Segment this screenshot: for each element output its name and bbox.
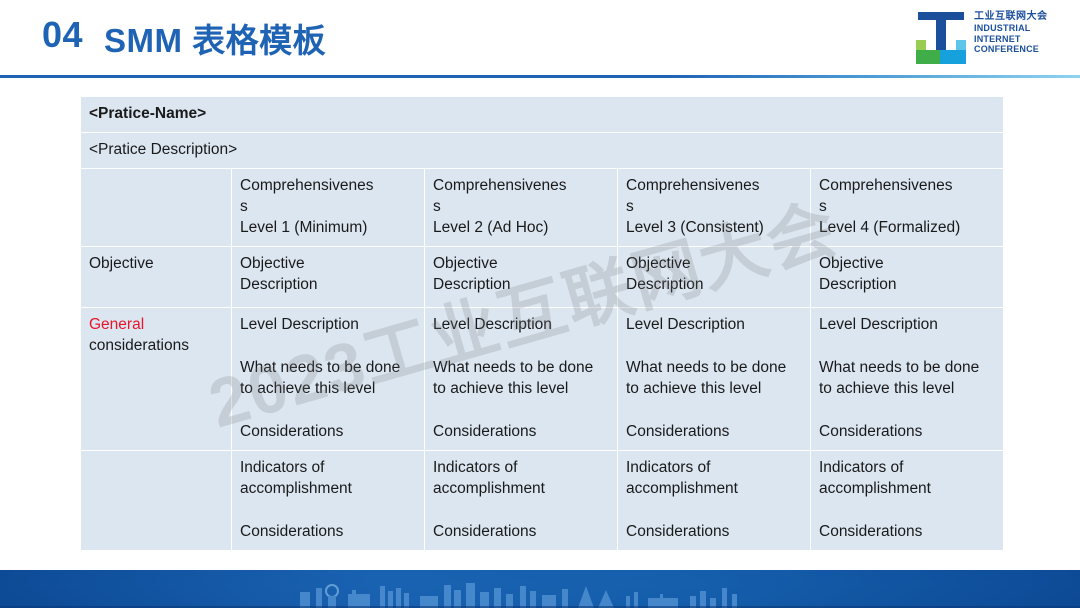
what-needs-1: What needs to be done to achieve this le… <box>240 357 416 399</box>
header-level-4-line2: s <box>819 196 995 217</box>
table-row-general-considerations: General considerations Level Description… <box>81 308 1004 451</box>
what-needs-3: What needs to be done to achieve this le… <box>626 357 802 399</box>
level-description-1: Level Description <box>240 314 416 335</box>
header-level-1-line2: s <box>240 196 416 217</box>
header-level-4-line1: Comprehensivenes <box>819 175 995 196</box>
indicators-cell-level-3: Indicators of accomplishment Considerati… <box>618 451 811 551</box>
header-level-2-line2: s <box>433 196 609 217</box>
practice-name-cell: <Pratice-Name> <box>81 97 1004 133</box>
header-level-3-line1: Comprehensivenes <box>626 175 802 196</box>
level-description-3: Level Description <box>626 314 802 335</box>
objective-text-1-line2: Description <box>240 274 416 295</box>
slide-footer <box>0 570 1080 608</box>
considerations-4: Considerations <box>819 421 995 442</box>
indicators-text-1: Indicators of accomplishment <box>240 457 416 499</box>
general-cell-level-2: Level Description What needs to be done … <box>425 308 618 451</box>
objective-text-3-line2: Description <box>626 274 802 295</box>
header-level-1: Comprehensivenes s Level 1 (Minimum) <box>232 169 425 247</box>
objective-text-2-line2: Description <box>433 274 609 295</box>
row-label-objective: Objective <box>81 247 232 308</box>
level-description-2: Level Description <box>433 314 609 335</box>
objective-text-4-line2: Description <box>819 274 995 295</box>
indicators-cell-level-4: Indicators of accomplishment Considerati… <box>811 451 1004 551</box>
header-level-4: Comprehensivenes s Level 4 (Formalized) <box>811 169 1004 247</box>
header-level-4-line3: Level 4 (Formalized) <box>819 217 995 238</box>
logo-text-en-3: CONFERENCE <box>974 44 1066 55</box>
table-row-objective: Objective Objective Description Objectiv… <box>81 247 1004 308</box>
indicators-considerations-3: Considerations <box>626 521 802 542</box>
objective-text-4-line1: Objective <box>819 253 995 274</box>
header-level-2: Comprehensivenes s Level 2 (Ad Hoc) <box>425 169 618 247</box>
conference-logo: 工业互联网大会 INDUSTRIAL INTERNET CONFERENCE <box>914 8 1064 70</box>
considerations-3: Considerations <box>626 421 802 442</box>
slide-header: 04 SMM 表格模板 工业互联网大会 INDUSTRIAL INTERNET … <box>0 0 1080 78</box>
logo-text: 工业互联网大会 INDUSTRIAL INTERNET CONFERENCE <box>974 10 1066 55</box>
objective-cell-level-2: Objective Description <box>425 247 618 308</box>
indicators-cell-level-1: Indicators of accomplishment Considerati… <box>232 451 425 551</box>
logo-text-en-2: INTERNET <box>974 34 1066 45</box>
practice-description-cell: <Pratice Description> <box>81 133 1004 169</box>
table-row-indicators: Indicators of accomplishment Considerati… <box>81 451 1004 551</box>
header-level-1-line3: Level 1 (Minimum) <box>240 217 416 238</box>
objective-cell-level-1: Objective Description <box>232 247 425 308</box>
objective-text-2-line1: Objective <box>433 253 609 274</box>
header-level-3: Comprehensivenes s Level 3 (Consistent) <box>618 169 811 247</box>
header-divider <box>0 75 1080 78</box>
row-label-considerations: considerations <box>89 335 223 356</box>
indicators-text-3: Indicators of accomplishment <box>626 457 802 499</box>
considerations-2: Considerations <box>433 421 609 442</box>
header-level-3-line2: s <box>626 196 802 217</box>
header-empty-cell <box>81 169 232 247</box>
row-label-general-considerations: General considerations <box>81 308 232 451</box>
table-row-practice-name: <Pratice-Name> <box>81 97 1004 133</box>
section-number: 04 <box>42 14 83 56</box>
header-level-2-line3: Level 2 (Ad Hoc) <box>433 217 609 238</box>
indicators-considerations-4: Considerations <box>819 521 995 542</box>
indicators-cell-level-2: Indicators of accomplishment Considerati… <box>425 451 618 551</box>
general-cell-level-1: Level Description What needs to be done … <box>232 308 425 451</box>
logo-mark-icon <box>914 10 968 66</box>
objective-cell-level-4: Objective Description <box>811 247 1004 308</box>
general-cell-level-3: Level Description What needs to be done … <box>618 308 811 451</box>
objective-text-3-line1: Objective <box>626 253 802 274</box>
logo-text-en-1: INDUSTRIAL <box>974 23 1066 34</box>
indicators-text-2: Indicators of accomplishment <box>433 457 609 499</box>
city-skyline-graphic <box>0 582 1080 608</box>
objective-text-1-line1: Objective <box>240 253 416 274</box>
indicators-considerations-1: Considerations <box>240 521 416 542</box>
smm-table: <Pratice-Name> <Pratice Description> Com… <box>80 96 1004 551</box>
general-cell-level-4: Level Description What needs to be done … <box>811 308 1004 451</box>
level-description-4: Level Description <box>819 314 995 335</box>
header-level-3-line3: Level 3 (Consistent) <box>626 217 802 238</box>
what-needs-4: What needs to be done to achieve this le… <box>819 357 995 399</box>
smm-table-container: <Pratice-Name> <Pratice Description> Com… <box>79 96 1003 551</box>
indicators-text-4: Indicators of accomplishment <box>819 457 995 499</box>
header-level-1-line1: Comprehensivenes <box>240 175 416 196</box>
page-title: SMM 表格模板 <box>104 14 326 62</box>
row-label-indicators <box>81 451 232 551</box>
row-label-general: General <box>89 314 223 335</box>
table-row-column-headers: Comprehensivenes s Level 1 (Minimum) Com… <box>81 169 1004 247</box>
table-row-practice-description: <Pratice Description> <box>81 133 1004 169</box>
objective-cell-level-3: Objective Description <box>618 247 811 308</box>
indicators-considerations-2: Considerations <box>433 521 609 542</box>
header-level-2-line1: Comprehensivenes <box>433 175 609 196</box>
what-needs-2: What needs to be done to achieve this le… <box>433 357 609 399</box>
logo-text-cn: 工业互联网大会 <box>974 10 1066 23</box>
considerations-1: Considerations <box>240 421 416 442</box>
